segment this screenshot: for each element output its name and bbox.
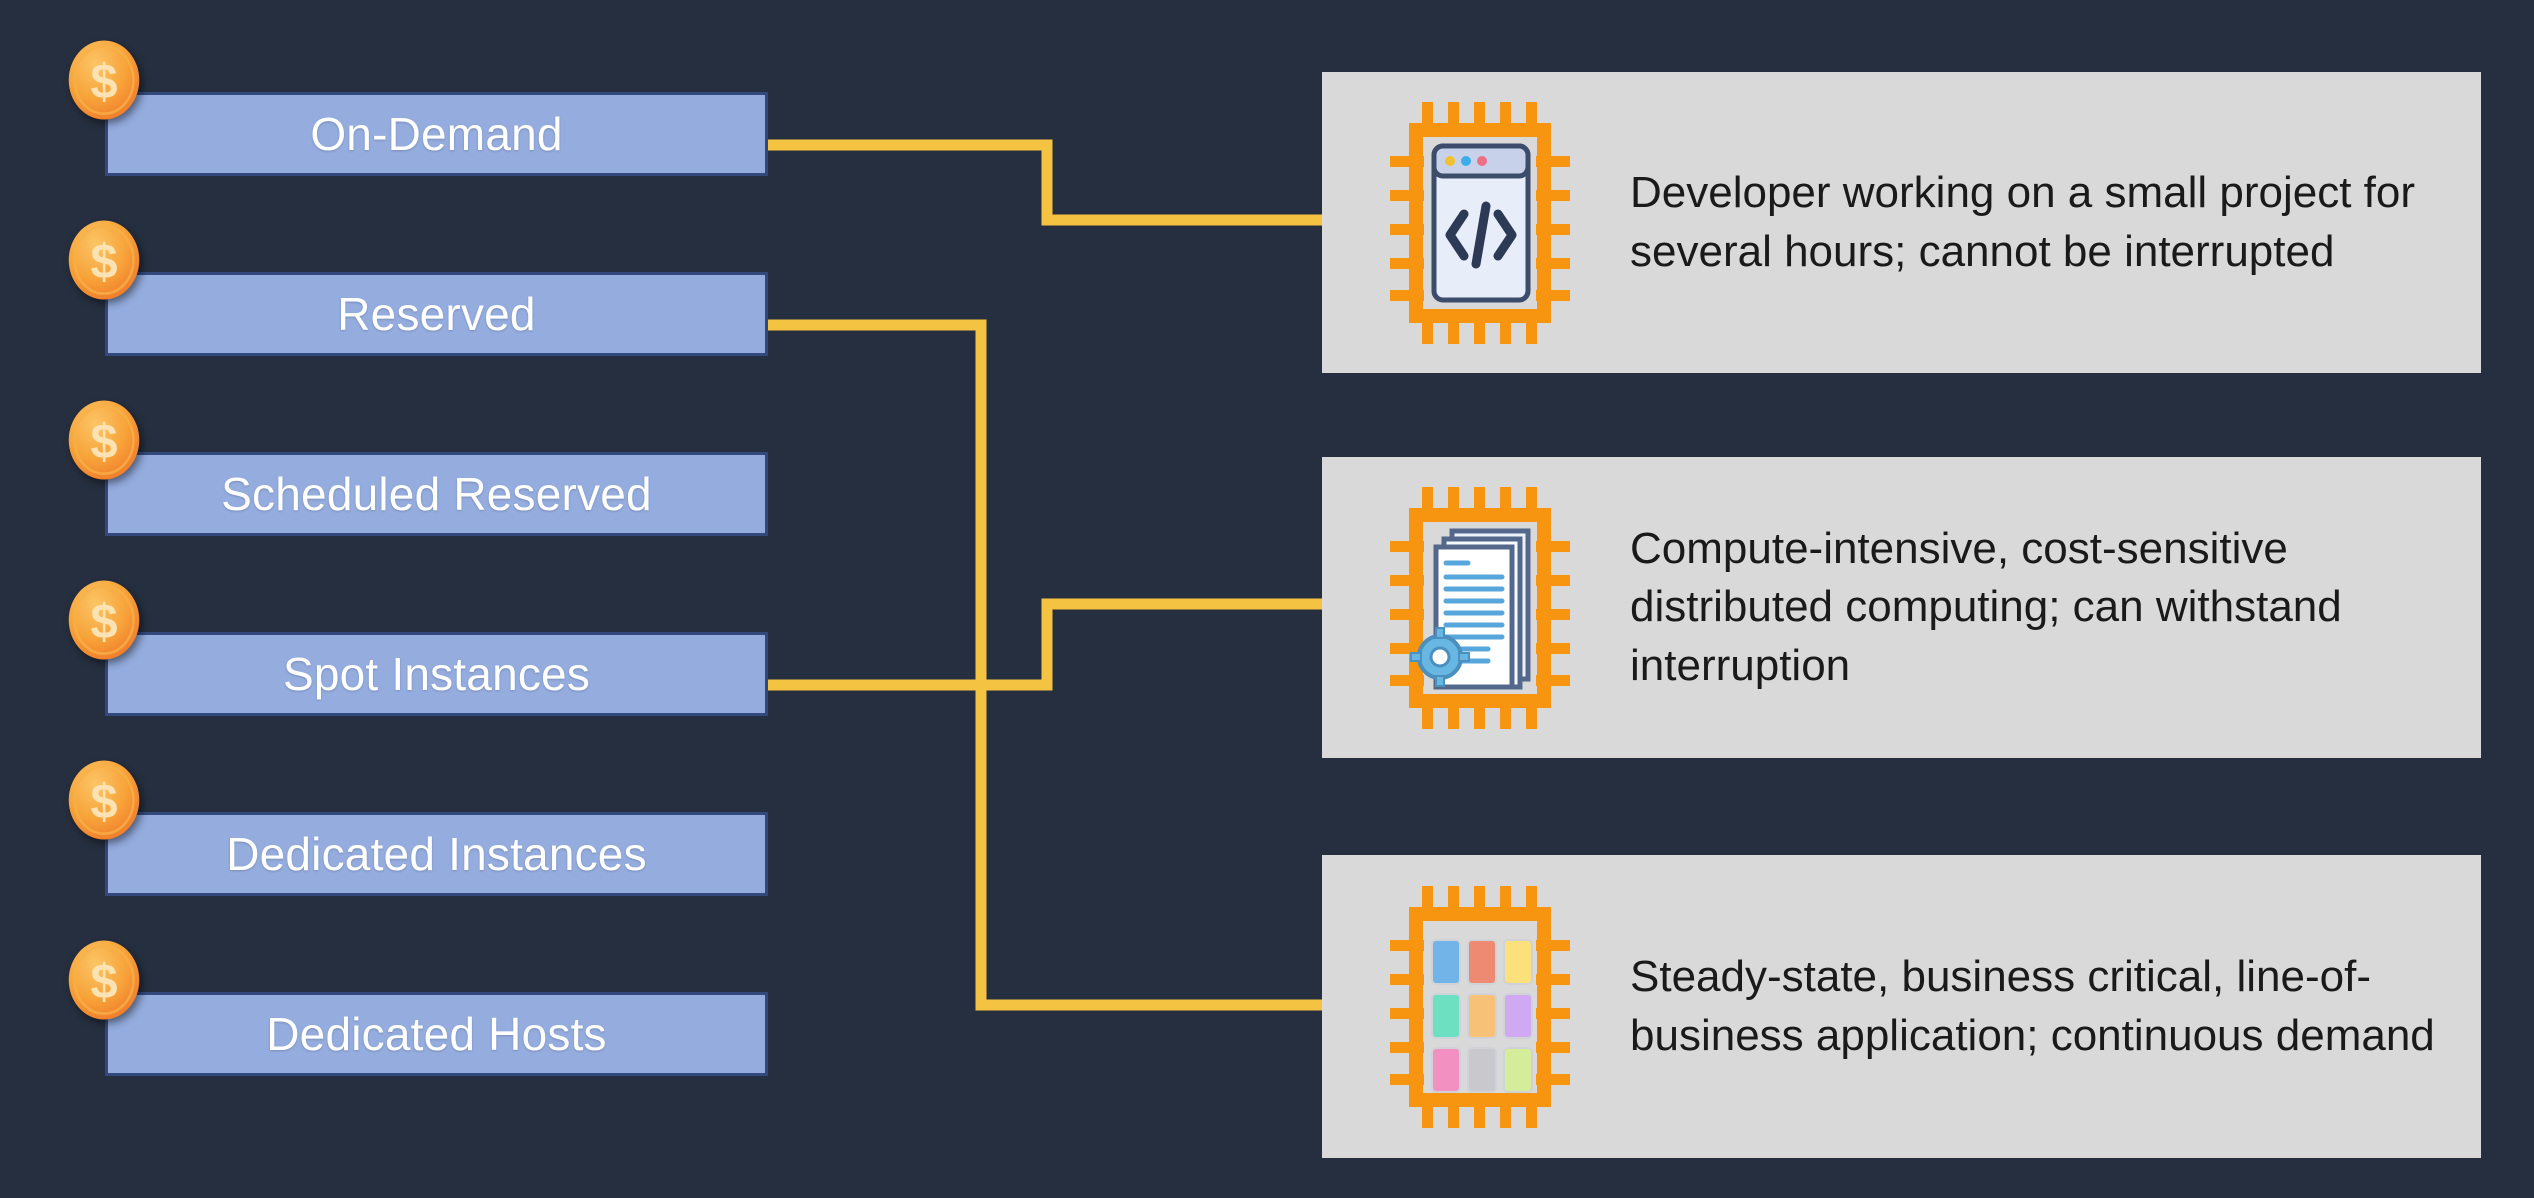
svg-text:$: $ (90, 415, 117, 469)
pricing-model-label: Spot Instances (283, 647, 590, 701)
svg-text:$: $ (90, 775, 117, 829)
dollar-coin-icon: $ (62, 398, 146, 482)
scenario-panel-developer[interactable]: Developer working on a small project for… (1322, 72, 2481, 373)
pricing-model-label: Dedicated Hosts (266, 1007, 607, 1061)
svg-text:$: $ (90, 955, 117, 1009)
scenario-text: Compute-intensive, cost-sensitive distri… (1630, 520, 2451, 696)
scenario-panel-compute-intensive[interactable]: Compute-intensive, cost-sensitive distri… (1322, 457, 2481, 758)
pricing-model-label: Scheduled Reserved (221, 467, 652, 521)
connector-spot (768, 604, 1322, 685)
pricing-model-bar-scheduled-reserved[interactable]: Scheduled Reserved (105, 452, 768, 536)
pricing-model-bar-spot-instances[interactable]: Spot Instances (105, 632, 768, 716)
scenario-text: Developer working on a small project for… (1630, 164, 2451, 281)
scenario-panel-steady-state[interactable]: Steady-state, business critical, line-of… (1322, 855, 2481, 1158)
scenario-text: Steady-state, business critical, line-of… (1630, 948, 2451, 1065)
dollar-coin-icon: $ (62, 218, 146, 302)
pricing-model-bar-dedicated-hosts[interactable]: Dedicated Hosts (105, 992, 768, 1076)
pricing-model-label: On-Demand (310, 107, 562, 161)
pricing-model-label: Dedicated Instances (226, 827, 647, 881)
chip-color-tiles-icon (1384, 878, 1584, 1136)
svg-text:$: $ (90, 595, 117, 649)
svg-text:$: $ (90, 55, 117, 109)
pricing-model-bar-on-demand[interactable]: On-Demand (105, 92, 768, 176)
dollar-coin-icon: $ (62, 938, 146, 1022)
connector-on-demand (768, 145, 1322, 220)
pricing-model-bar-reserved[interactable]: Reserved (105, 272, 768, 356)
pricing-model-bar-dedicated-instances[interactable]: Dedicated Instances (105, 812, 768, 896)
diagram-canvas: On-Demand $ Reserved $ (0, 0, 2534, 1198)
dollar-coin-icon: $ (62, 578, 146, 662)
chip-documents-gear-icon (1384, 479, 1584, 737)
chip-code-window-icon (1384, 94, 1584, 352)
dollar-coin-icon: $ (62, 758, 146, 842)
svg-text:$: $ (90, 235, 117, 289)
connector-reserved (768, 325, 1322, 1005)
pricing-model-label: Reserved (337, 287, 535, 341)
dollar-coin-icon: $ (62, 38, 146, 122)
